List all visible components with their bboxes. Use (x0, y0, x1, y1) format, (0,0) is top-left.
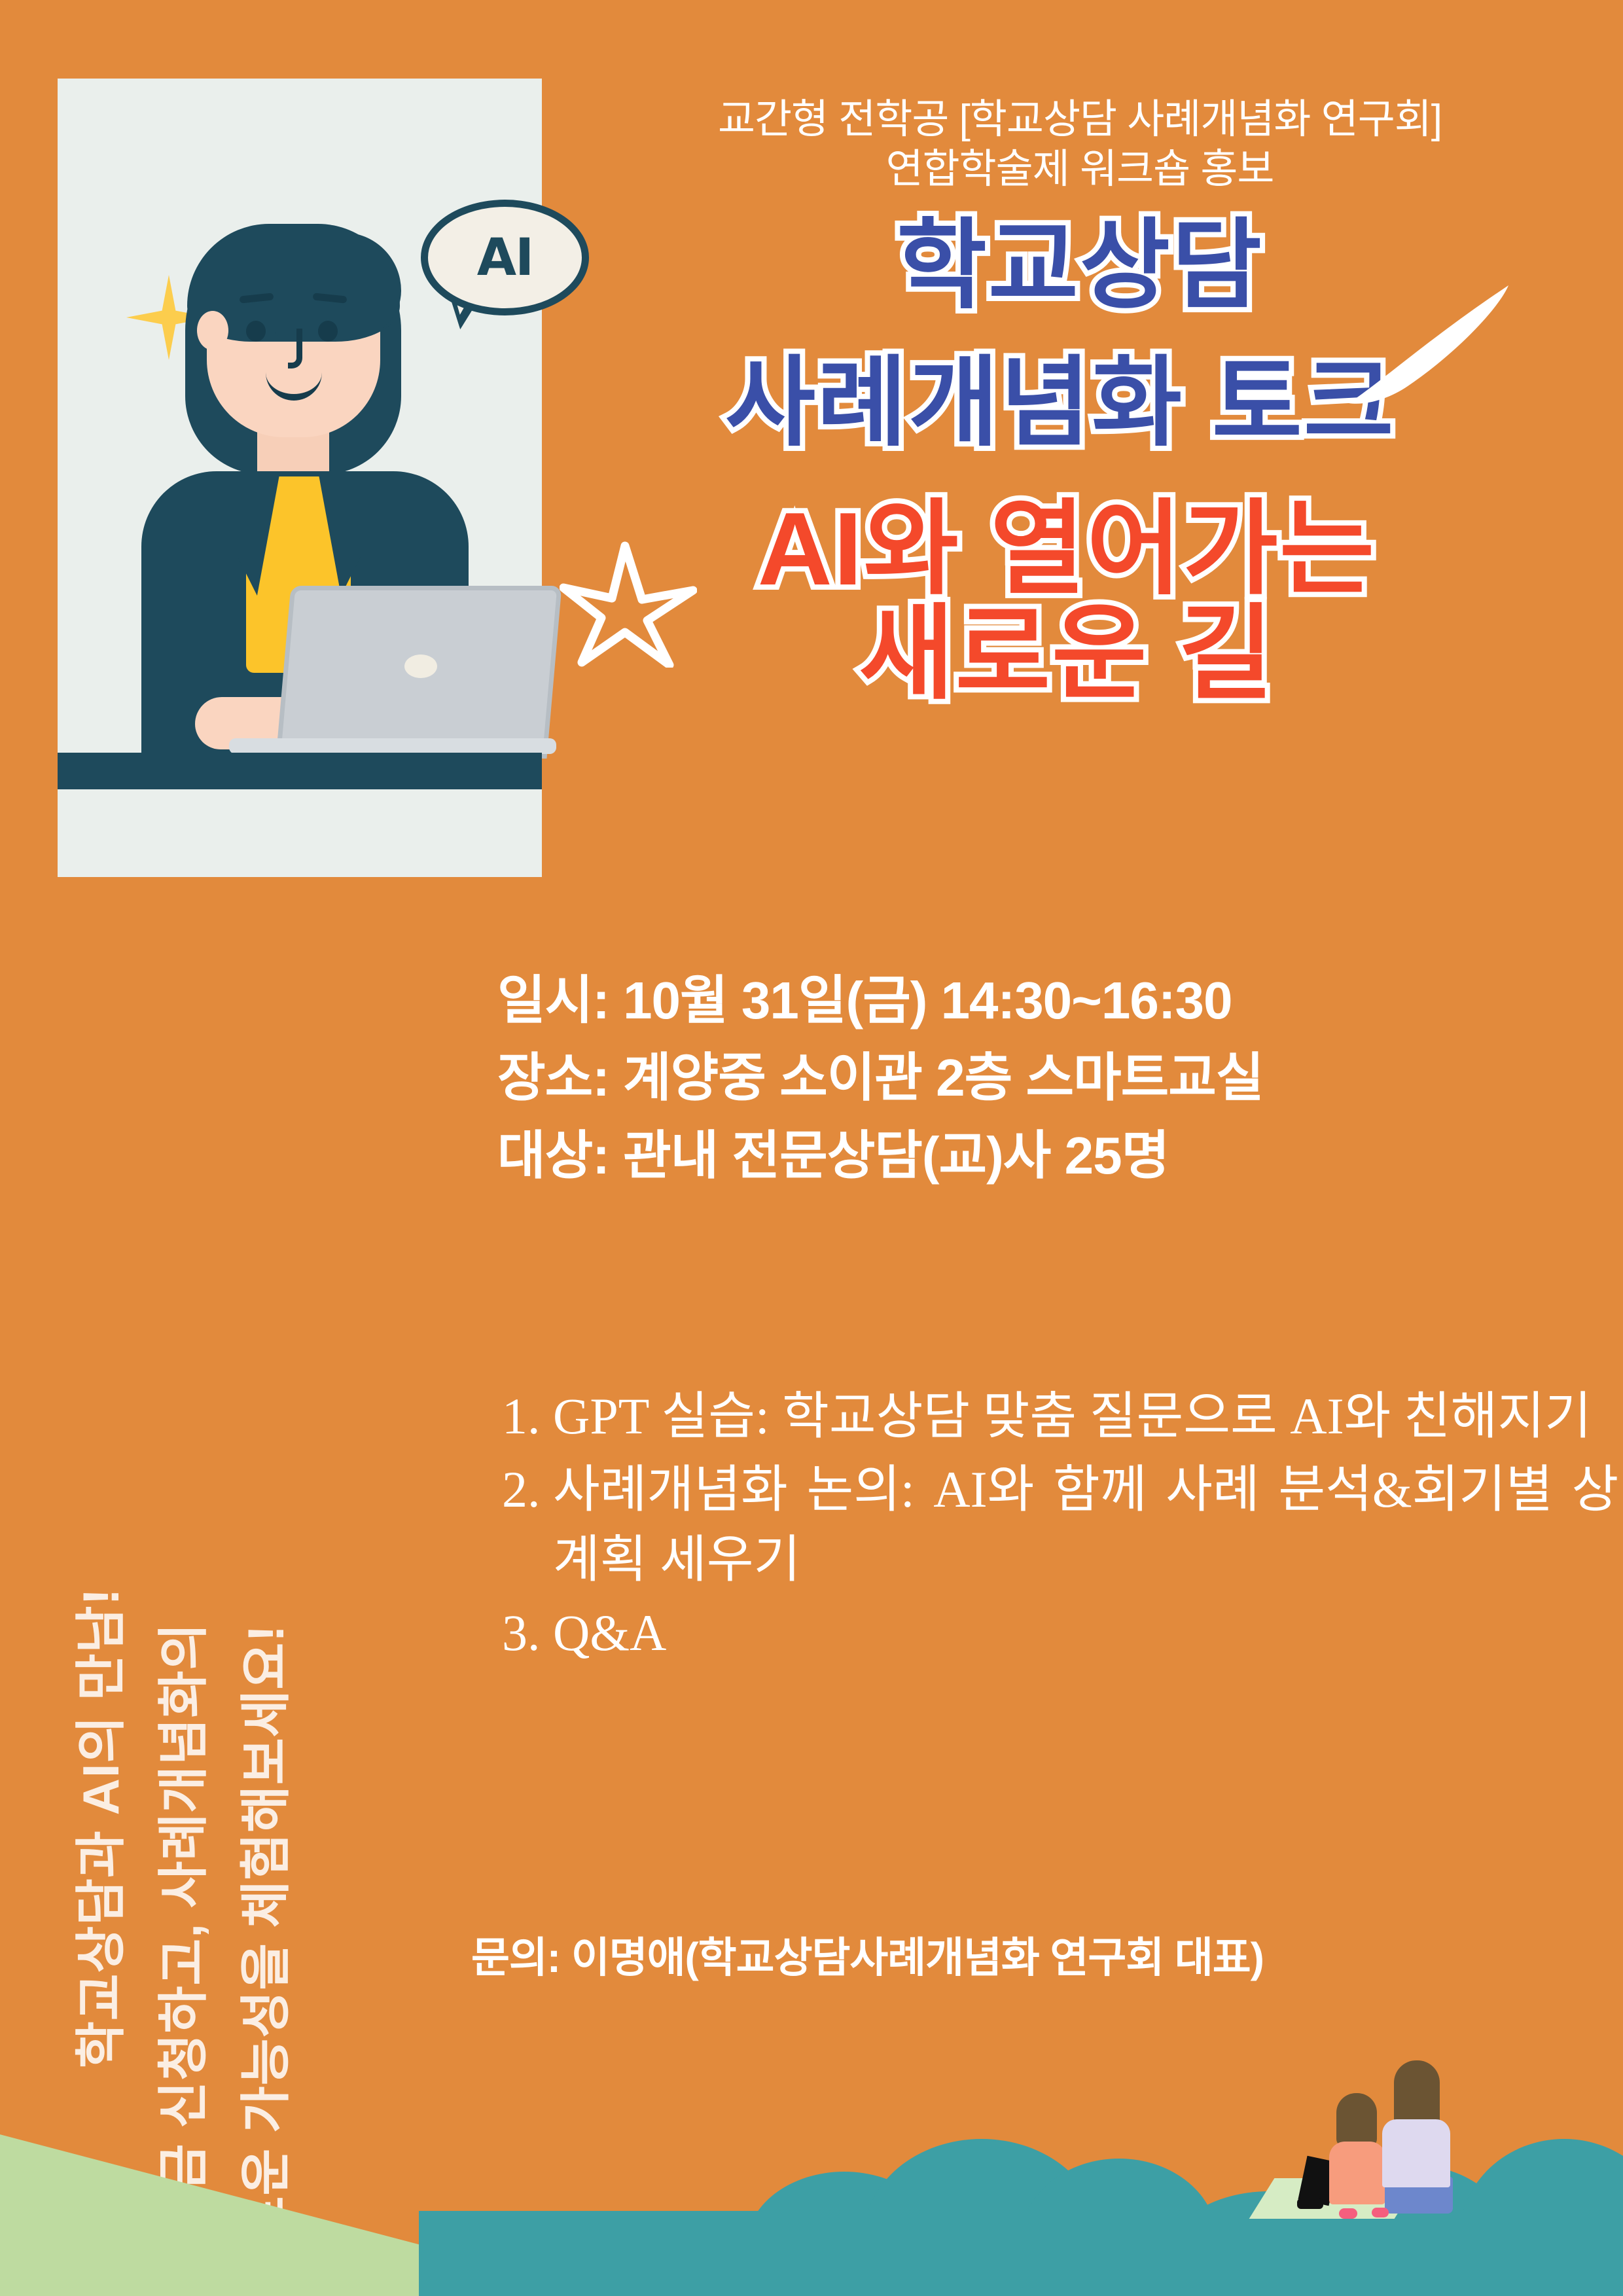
page-title-line4: 새로운 길 (556, 602, 1577, 706)
event-audience: 대상: 관내 전문상담(교)사 25명 (497, 1117, 1597, 1194)
page-title-line2: 사례개념화 토크 (550, 353, 1571, 452)
page-title-line3: AI와 열어가는 (556, 497, 1577, 601)
person-ear (197, 311, 228, 350)
header-subtitle-line2: 연합학술제 워크숍 홍보 (576, 145, 1584, 194)
event-info-block: 일시: 10월 31일(금) 14:30~16:30 장소: 계양중 소이관 2… (497, 962, 1597, 1194)
seated-person-1-hair (1336, 2093, 1377, 2147)
event-location: 장소: 계양중 소이관 2층 스마트교실 (497, 1039, 1597, 1117)
person-eye-left (246, 321, 266, 342)
seated-person-1-shoe (1297, 2198, 1323, 2209)
list-item: Q&A (553, 1598, 1623, 1668)
seated-person-2-body (1382, 2119, 1450, 2187)
person-eye-right (318, 321, 338, 342)
desk-surface (58, 753, 542, 789)
side-text-line2: 지금 신청하고, 사례개념화의 (143, 1623, 216, 2238)
side-text-line1: 학교상담과 AI의 만남! (60, 1588, 134, 2068)
list-item: GPT 실습: 학교상담 맞춤 질문으로 AI와 친해지기 (553, 1381, 1623, 1452)
speech-bubble: AI (421, 200, 589, 315)
header-subtitle: 교간형 전학공 [학교상담 사례개념화 연구회] 연합학술제 워크숍 홍보 (576, 95, 1584, 194)
laptop-base (229, 738, 556, 754)
person-hair-fringe (274, 232, 401, 337)
seated-person-2-foot (1372, 2208, 1389, 2217)
illustration-card: AI (58, 79, 542, 877)
contact-line: 문의: 이명애(학교상담사례개념화 연구회 대표) (471, 1924, 1264, 1984)
bush-base-strip (419, 2211, 1623, 2296)
page-title-line1: 학교상담 (569, 216, 1590, 314)
list-item: 사례개념화 논의: AI와 함께 사례 분석&회기별 상담계획 세우기 (553, 1454, 1623, 1595)
laptop-logo (404, 655, 437, 678)
person-nose (288, 329, 302, 368)
seated-person-1-foot (1339, 2208, 1357, 2219)
seated-person-1-body (1329, 2142, 1385, 2204)
event-datetime: 일시: 10월 31일(금) 14:30~16:30 (497, 962, 1597, 1039)
speech-bubble-label: AI (477, 228, 533, 287)
star-icon (560, 537, 697, 668)
agenda-list: GPT 실습: 학교상담 맞춤 질문으로 AI와 친해지기 사례개념화 논의: … (488, 1381, 1623, 1671)
header-subtitle-line1: 교간형 전학공 [학교상담 사례개념화 연구회] (576, 95, 1584, 145)
side-text-line3: 새로운 가능성을 체험해보세요! (225, 1624, 298, 2291)
poster-canvas: AI 교간형 전학공 [학교상담 사례개념화 연구회] 연합학술제 워크숍 홍보… (0, 0, 1623, 2296)
